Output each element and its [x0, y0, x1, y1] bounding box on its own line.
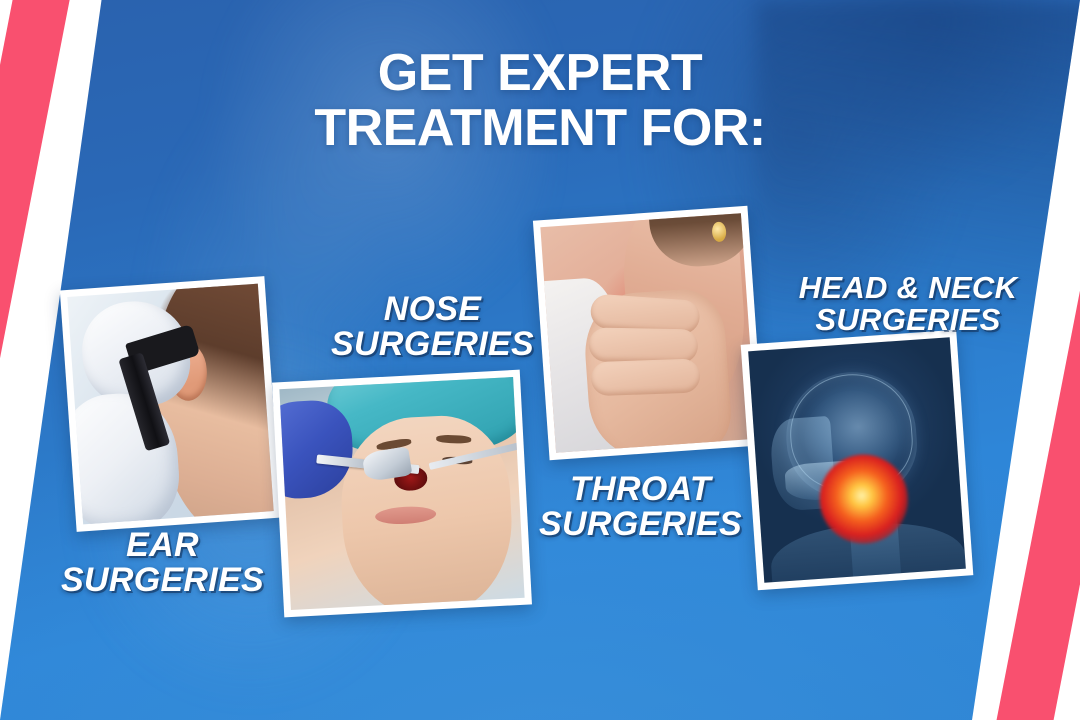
head-neck-xray-pain-photo: [748, 337, 966, 583]
sore-throat-neck-pain-photo: [540, 213, 756, 452]
photo-card-ear[interactable]: [60, 276, 281, 532]
card-label-ear: EAR SURGERIES: [40, 528, 285, 597]
card-label-nose: NOSE SURGERIES: [310, 292, 555, 361]
card-label-throat: THROAT SURGERIES: [518, 472, 763, 541]
page-title: GET EXPERT TREATMENT FOR:: [0, 46, 1080, 156]
photo-card-head-neck[interactable]: [741, 330, 974, 590]
card-label-head-neck: HEAD & NECK SURGERIES: [778, 272, 1038, 335]
headline-line-1: GET EXPERT: [378, 44, 702, 102]
poster-canvas: GET EXPERT TREATMENT FOR:: [0, 0, 1080, 720]
photo-card-nose[interactable]: [272, 370, 532, 618]
photo-card-throat[interactable]: [533, 206, 764, 460]
nose-surgery-operating-room-photo: [279, 377, 524, 610]
finger-3: [591, 359, 701, 397]
headline-line-2: TREATMENT FOR:: [0, 101, 1080, 156]
ear-examination-otoscope-photo: [67, 284, 273, 525]
